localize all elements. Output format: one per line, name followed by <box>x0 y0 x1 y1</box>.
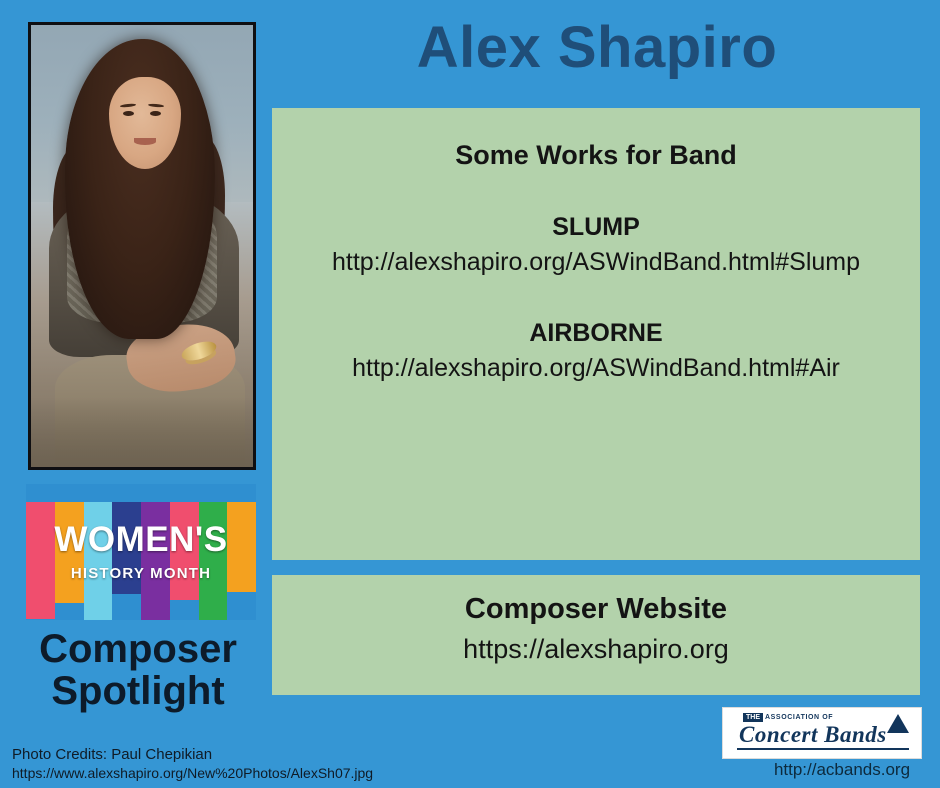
portrait-eye-right <box>150 111 161 116</box>
photo-credit-line: Photo Credits: Paul Chepikian <box>12 746 373 763</box>
work-url-link[interactable]: http://alexshapiro.org/ASWindBand.html#S… <box>272 248 920 277</box>
work-title: SLUMP <box>272 213 920 242</box>
whm-text-block: WOMEN'S HISTORY MONTH <box>26 484 256 620</box>
website-panel-heading: Composer Website <box>272 593 920 626</box>
acb-website-link[interactable]: http://acbands.org <box>742 760 940 780</box>
spotlight-line-2: Spotlight <box>10 670 266 712</box>
work-url-link[interactable]: http://alexshapiro.org/ASWindBand.html#A… <box>272 354 920 383</box>
portrait-mouth <box>134 138 156 145</box>
work-title: AIRBORNE <box>272 319 920 348</box>
womens-history-month-logo: WOMEN'S HISTORY MONTH <box>26 484 256 620</box>
whm-line-2: HISTORY MONTH <box>71 565 211 582</box>
acb-logo-inner: THE ASSOCIATION OF Concert Bands <box>723 708 921 758</box>
whm-line-1: WOMEN'S <box>54 522 227 557</box>
spotlight-line-1: Composer <box>10 628 266 670</box>
acb-name-label: Concert Bands <box>739 722 887 748</box>
acb-association-label: ASSOCIATION OF <box>765 714 833 721</box>
portrait-eye-left <box>123 111 134 116</box>
slide-canvas: Alex Shapiro Some Works for Band SLUMP h… <box>0 0 940 788</box>
acb-divider <box>737 748 909 750</box>
composer-spotlight-label: Composer Spotlight <box>10 628 266 713</box>
works-panel: Some Works for Band SLUMP http://alexsha… <box>272 108 920 560</box>
website-panel: Composer Website https://alexshapiro.org <box>272 575 920 695</box>
acb-the-label: THE <box>743 713 763 722</box>
work-entry-slump: SLUMP http://alexshapiro.org/ASWindBand.… <box>272 213 920 277</box>
photo-credits: Photo Credits: Paul Chepikian https://ww… <box>12 746 373 781</box>
acb-logo: THE ASSOCIATION OF Concert Bands <box>722 707 922 759</box>
works-panel-heading: Some Works for Band <box>272 140 920 171</box>
portrait-foreground-sand <box>31 397 253 467</box>
composer-portrait <box>28 22 256 470</box>
composer-website-link[interactable]: https://alexshapiro.org <box>272 634 920 665</box>
portrait-image <box>31 25 253 467</box>
work-entry-airborne: AIRBORNE http://alexshapiro.org/ASWindBa… <box>272 319 920 383</box>
photo-credit-url[interactable]: https://www.alexshapiro.org/New%20Photos… <box>12 765 373 781</box>
triangle-icon <box>887 714 909 733</box>
page-title: Alex Shapiro <box>272 16 922 80</box>
